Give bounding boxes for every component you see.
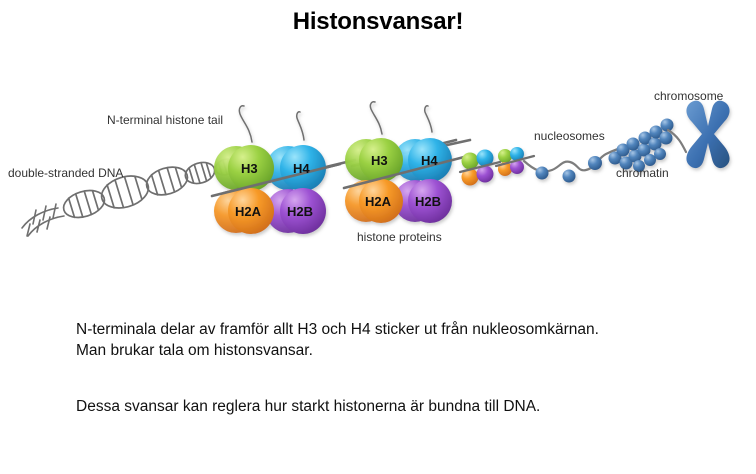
h3-sphere xyxy=(228,145,274,191)
label-nucleosomes: nucleosomes xyxy=(534,129,605,143)
bead xyxy=(644,154,656,166)
label-chromosome: chromosome xyxy=(654,89,723,103)
body-paragraph-1: N-terminala delar av framför allt H3 och… xyxy=(76,319,599,361)
chromatin-beads xyxy=(609,119,674,173)
nucleosome-cluster-1 xyxy=(214,106,326,234)
label-chromatin: chromatin xyxy=(616,166,669,180)
h4-sphere-2 xyxy=(408,138,452,182)
bead xyxy=(536,167,549,180)
bead xyxy=(563,170,576,183)
page-title: Histonsvansar! xyxy=(0,8,756,36)
histone-packaging-diagram: double-stranded DNA N-terminal histone t… xyxy=(0,78,756,268)
h2b-sphere xyxy=(280,188,326,234)
h2b-sphere-2 xyxy=(408,179,452,223)
body-line-2: Man brukar tala om histonsvansar. xyxy=(76,340,599,361)
h3-sphere-small-4 xyxy=(498,149,512,163)
n-terminal-tail-h4 xyxy=(297,112,304,140)
nucleosome-cluster-2 xyxy=(345,102,452,223)
h2a-sphere xyxy=(228,188,274,234)
n-terminal-tail-h3-2 xyxy=(370,102,382,134)
body-paragraph-2: Dessa svansar kan reglera hur starkt his… xyxy=(76,396,540,417)
body-line-1: N-terminala delar av framför allt H3 och… xyxy=(76,319,599,340)
label-double-stranded-dna: double-stranded DNA xyxy=(8,166,123,180)
label-n-terminal-histone-tail: N-terminal histone tail xyxy=(107,113,223,127)
nucleosome-beads xyxy=(536,156,603,183)
bead xyxy=(588,156,602,170)
label-histone-proteins: histone proteins xyxy=(357,230,442,244)
n-terminal-tail-h3 xyxy=(239,106,252,142)
h2a-sphere-2 xyxy=(359,179,403,223)
n-terminal-tail-h4-2 xyxy=(425,106,432,132)
chromosome-shape xyxy=(686,101,729,169)
bead xyxy=(627,138,640,151)
bead xyxy=(654,148,666,160)
bead xyxy=(660,132,673,145)
